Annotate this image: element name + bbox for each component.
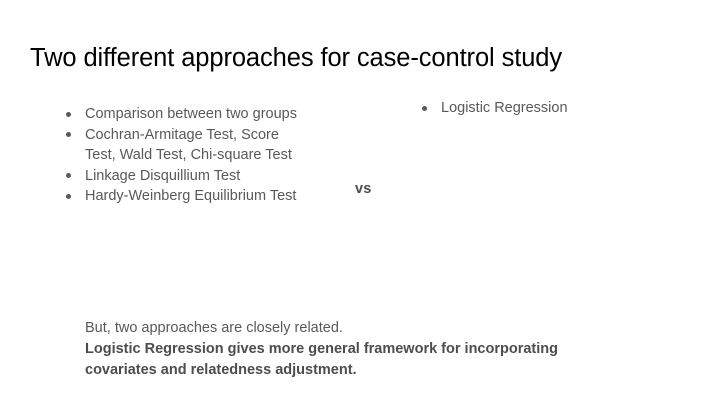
right-bullet-list: Logistic Regression xyxy=(418,98,688,119)
footnote-line-3: covariates and relatedness adjustment. xyxy=(85,360,685,381)
footnote-block: But, two approaches are closely related.… xyxy=(85,318,685,381)
slide-canvas: Two different approaches for case-contro… xyxy=(0,0,720,405)
bullet-dot-icon xyxy=(66,132,71,137)
bullet-dot-icon xyxy=(66,112,71,117)
bullet-dot-icon xyxy=(422,106,427,111)
list-item: Linkage Disquillium Test xyxy=(62,166,312,187)
bullet-text: Comparison between two groups xyxy=(85,104,312,125)
right-approach-column: Logistic Regression xyxy=(418,98,688,119)
bullet-text: Cochran-Armitage Test, Score Test, Wald … xyxy=(85,125,312,166)
bullet-text: Linkage Disquillium Test xyxy=(85,166,312,187)
page-title: Two different approaches for case-contro… xyxy=(30,43,562,73)
list-item: Logistic Regression xyxy=(418,98,688,119)
bullet-text: Hardy-Weinberg Equilibrium Test xyxy=(85,186,312,207)
list-item: Comparison between two groups xyxy=(62,104,312,125)
list-item: Hardy-Weinberg Equilibrium Test xyxy=(62,186,312,207)
left-bullet-list: Comparison between two groups Cochran-Ar… xyxy=(62,104,312,207)
versus-label: vs xyxy=(355,180,372,198)
left-approach-column: Comparison between two groups Cochran-Ar… xyxy=(62,104,312,207)
bullet-dot-icon xyxy=(66,173,71,178)
footnote-line-1: But, two approaches are closely related. xyxy=(85,318,685,339)
footnote-line-2: Logistic Regression gives more general f… xyxy=(85,339,685,360)
bullet-dot-icon xyxy=(66,194,71,199)
bullet-text: Logistic Regression xyxy=(441,98,688,119)
list-item: Cochran-Armitage Test, Score Test, Wald … xyxy=(62,125,312,166)
